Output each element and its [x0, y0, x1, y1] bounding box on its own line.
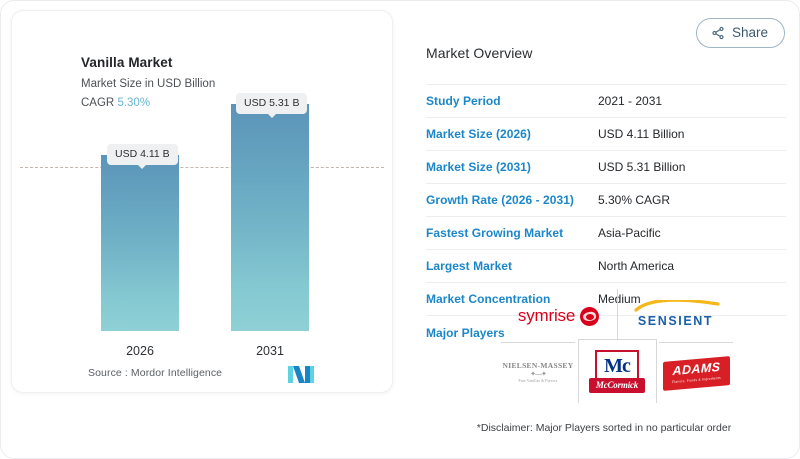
nielsen-massey-ornament-icon: ✦—✦ [503, 371, 574, 378]
table-row: Market Size (2031) USD 5.31 Billion [426, 151, 786, 184]
row-key: Fastest Growing Market [426, 217, 598, 250]
reference-dashed-line [20, 167, 384, 168]
sensient-wordmark: SENSIENT [638, 314, 713, 328]
table-row: Market Size (2026) USD 4.11 Billion [426, 118, 786, 151]
major-players-logo-grid: symrise SENSIENT NIELSEN-MASSEY ✦—✦ Pure… [501, 293, 733, 403]
mccormick-monogram: Mc [604, 356, 630, 376]
row-value: USD 5.31 Billion [598, 151, 786, 184]
bar-label-2026: USD 4.11 B [107, 144, 178, 165]
row-key: Study Period [426, 85, 598, 118]
bar-2026[interactable] [101, 155, 179, 331]
logo-nielsen-massey[interactable]: NIELSEN-MASSEY ✦—✦ Pure Vanillas & Flavo… [501, 343, 575, 403]
logo-adams[interactable]: ADAMS Flavors, Foods & Ingredients [659, 343, 733, 403]
share-button[interactable]: Share [696, 18, 785, 48]
row-key: Market Size (2026) [426, 118, 598, 151]
row-value: USD 4.11 Billion [598, 118, 786, 151]
row-value: 5.30% CAGR [598, 184, 786, 217]
mordor-intelligence-logo-icon [288, 364, 314, 384]
mccormick-wordmark: McCormick [589, 378, 645, 393]
bar-label-2031: USD 5.31 B [236, 93, 307, 114]
share-nodes-icon [711, 26, 725, 40]
report-page: Share Vanilla Market Market Size in USD … [0, 0, 800, 459]
x-tick-2031: 2031 [231, 344, 309, 358]
source-label: Source : Mordor Intelligence [88, 367, 222, 379]
adams-wordmark: ADAMS [672, 361, 721, 378]
symrise-wordmark: symrise [518, 306, 575, 326]
logo-mccormick[interactable]: Mc McCormick [579, 339, 655, 403]
logo-symrise[interactable]: symrise [501, 293, 616, 339]
x-tick-2026: 2026 [101, 344, 179, 358]
bar-chart-plot: USD 4.11 B USD 5.31 B 2026 2031 [12, 11, 392, 392]
table-row: Fastest Growing Market Asia-Pacific [426, 217, 786, 250]
share-button-label: Share [732, 26, 768, 40]
overview-title: Market Overview [426, 45, 786, 61]
chart-card: Vanilla Market Market Size in USD Billio… [11, 10, 393, 393]
logo-sensient[interactable]: SENSIENT [618, 293, 733, 339]
row-value: 2021 - 2031 [598, 85, 786, 118]
row-value: North America [598, 250, 786, 283]
row-value: Asia-Pacific [598, 217, 786, 250]
row-key: Largest Market [426, 250, 598, 283]
row-key: Growth Rate (2026 - 2031) [426, 184, 598, 217]
nielsen-massey-tagline: Pure Vanillas & Flavors [503, 380, 574, 384]
table-row: Study Period 2021 - 2031 [426, 85, 786, 118]
disclaimer-text: *Disclaimer: Major Players sorted in no … [424, 422, 784, 434]
row-key: Market Size (2031) [426, 151, 598, 184]
table-row: Growth Rate (2026 - 2031) 5.30% CAGR [426, 184, 786, 217]
nielsen-massey-wordmark: NIELSEN-MASSEY [503, 362, 574, 370]
sensient-swoosh-icon [634, 300, 720, 313]
bar-2031[interactable] [231, 104, 309, 331]
symrise-globe-icon [580, 307, 599, 326]
table-row: Largest Market North America [426, 250, 786, 283]
